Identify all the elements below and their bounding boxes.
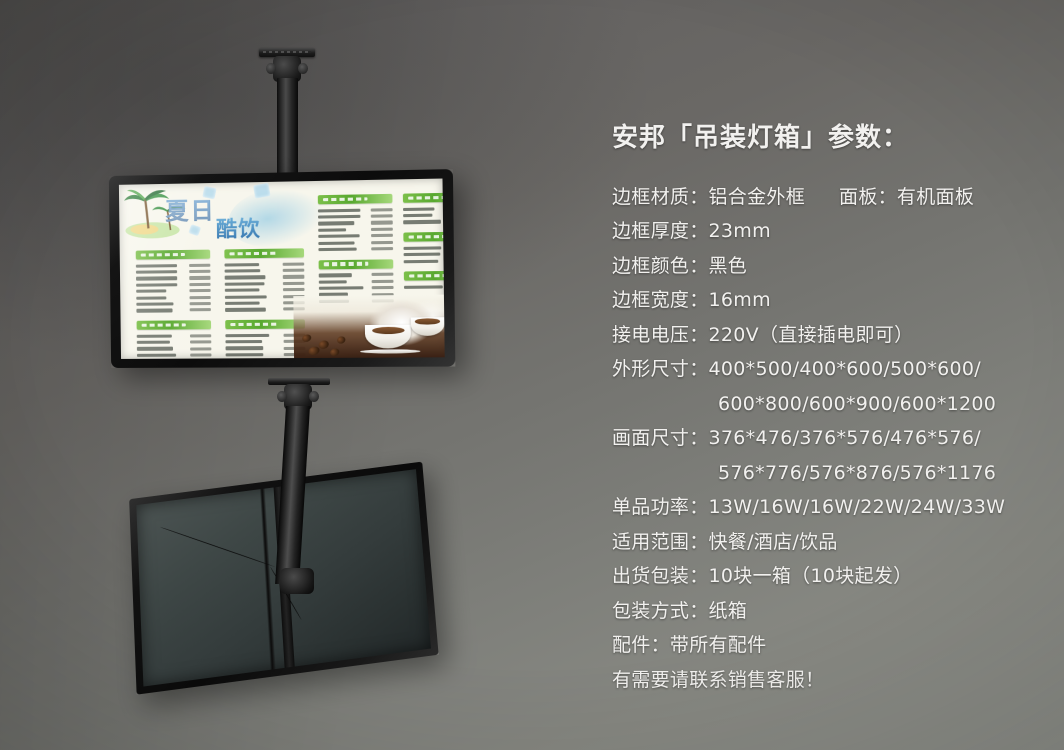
menu-item-price <box>189 270 210 273</box>
menu-item-price <box>371 240 393 243</box>
menu-item-name <box>403 214 432 218</box>
spec-line: 边框材质：铝合金外框面板：有机面板 <box>612 180 1042 215</box>
menu-item-price <box>189 263 210 266</box>
spec-line: 单品功率：13W/16W/16W/22W/24W/33W <box>612 490 1042 525</box>
menu-item-price <box>371 227 393 231</box>
menu-item-name <box>318 215 360 219</box>
menu-item-name <box>136 290 166 294</box>
tilt-hinge-icon <box>280 568 314 594</box>
menu-item-name <box>225 334 269 338</box>
spec-line: 外形尺寸：400*500/400*600/500*600/ <box>612 352 1042 387</box>
menu-item-price <box>189 289 210 292</box>
menu-item-name <box>319 286 364 290</box>
menu-item-name <box>137 353 176 357</box>
menu-item-name <box>225 340 262 344</box>
coffee-photo <box>293 295 445 358</box>
spec-line-list: 边框材质：铝合金外框面板：有机面板边框厚度：23mm边框颜色：黑色边框宽度：16… <box>612 180 1042 698</box>
menu-item-price <box>371 221 393 225</box>
menu-item-name <box>318 228 346 232</box>
spec-line: 576*776/576*876/576*1176 <box>612 456 1042 491</box>
menu-item-price <box>372 286 394 289</box>
menu-item-name <box>404 259 439 263</box>
spec-line-extra: 面板：有机面板 <box>839 186 974 208</box>
menu-item-name <box>137 341 170 345</box>
menu-item-name <box>225 269 261 273</box>
menu-item-name <box>137 334 172 338</box>
menu-item-row <box>137 358 212 359</box>
menu-item-price <box>283 269 305 272</box>
menu-item-name <box>225 289 259 293</box>
menu-item-name <box>403 246 440 250</box>
menu-hero-title-line1: 夏日 <box>165 191 216 226</box>
menu-item-price <box>283 262 305 265</box>
coffee-bean-icon <box>329 348 340 358</box>
light-box-frame: 夏日 酷饮 <box>109 169 456 368</box>
menu-section-header <box>137 320 212 330</box>
menu-item-name <box>403 220 441 224</box>
spec-line: 包装方式：纸箱 <box>612 594 1042 629</box>
coffee-cup-icon <box>365 325 411 349</box>
ice-cube-icon <box>188 224 201 236</box>
menu-item-name <box>225 301 259 305</box>
menu-item-name <box>136 270 177 274</box>
spec-panel: 安邦「吊装灯箱」参数： 边框材质：铝合金外框面板：有机面板边框厚度：23mm边框… <box>612 124 1042 697</box>
product-photo-stage: 夏日 酷饮 <box>0 0 1064 750</box>
menu-item-name <box>318 247 356 251</box>
menu-section-group-far-right <box>403 192 445 297</box>
menu-item-name <box>319 280 347 284</box>
menu-section-header <box>136 250 211 260</box>
menu-item-price <box>371 214 393 218</box>
menu-item-price <box>189 276 210 279</box>
menu-section-header <box>318 194 393 205</box>
menu-item-name <box>136 264 177 268</box>
spec-title: 安邦「吊装灯箱」参数： <box>612 124 1042 154</box>
menu-section-header <box>403 192 445 202</box>
menu-item-price <box>190 302 211 305</box>
menu-item-name <box>136 302 173 306</box>
menu-item-price <box>190 340 211 343</box>
menu-section-header <box>224 248 304 258</box>
spec-line: 边框宽度：16mm <box>612 283 1042 318</box>
coffee-bean-icon <box>301 333 312 343</box>
menu-item-price <box>371 247 393 250</box>
menu-section-header <box>319 259 394 269</box>
menu-item-name <box>225 308 266 312</box>
menu-item-name <box>137 347 173 351</box>
menu-item-name <box>318 208 360 212</box>
menu-item-name <box>404 253 441 257</box>
menu-item-price <box>190 347 211 350</box>
menu-section-header <box>404 271 445 281</box>
menu-item-name <box>225 282 265 286</box>
menu-section-group-right <box>318 194 394 312</box>
spec-line: 接电电压：220V（直接插电即可） <box>612 318 1042 353</box>
mount-pole-lower <box>275 406 310 584</box>
menu-item-name <box>136 277 178 281</box>
menu-item-name <box>136 296 166 300</box>
menu-item-price <box>371 234 393 237</box>
menu-item-name <box>136 283 178 287</box>
menu-item-name <box>318 241 354 245</box>
menu-light-box-front: 夏日 酷饮 <box>109 169 456 368</box>
menu-item-name <box>404 285 443 289</box>
spec-line: 出货包装：10块一箱（10块起发） <box>612 559 1042 594</box>
menu-hero-artwork: 夏日 酷饮 <box>119 181 305 247</box>
spec-line: 画面尺寸：376*476/376*576/476*576/ <box>612 421 1042 456</box>
spec-line: 配件：带所有配件 <box>612 628 1042 663</box>
menu-section-group-left <box>136 250 212 359</box>
spec-line: 适用范围：快餐/酒店/饮品 <box>612 525 1042 560</box>
spec-line: 边框厚度：23mm <box>612 214 1042 249</box>
menu-item-name <box>319 273 352 277</box>
spec-line: 有需要请联系销售客服！ <box>612 663 1042 698</box>
light-box-menu-panel: 夏日 酷饮 <box>119 179 445 359</box>
ceiling-mount-upper <box>247 48 327 188</box>
menu-item-price <box>189 296 210 299</box>
menu-item-price <box>190 334 211 337</box>
menu-item-price <box>372 280 394 283</box>
spec-line: 边框颜色：黑色 <box>612 249 1042 284</box>
menu-item-price <box>372 273 394 276</box>
menu-item-price <box>283 275 305 278</box>
menu-item-name <box>403 207 434 211</box>
menu-item-name <box>136 309 172 313</box>
menu-item-price <box>371 208 393 212</box>
coffee-bean-icon <box>318 339 330 350</box>
ice-cube-icon <box>253 183 270 199</box>
menu-item-name <box>226 347 263 351</box>
menu-item-name <box>225 295 266 299</box>
menu-item-price <box>189 283 210 286</box>
menu-hero-title-line2: 酷饮 <box>216 212 261 243</box>
menu-item-name <box>226 353 264 357</box>
spec-line: 600*800/600*900/600*1200 <box>612 387 1042 422</box>
menu-item-name <box>318 221 354 225</box>
coffee-bean-icon <box>336 336 346 345</box>
ceiling-mount-lower <box>258 378 348 608</box>
coffee-cup-icon <box>411 317 445 336</box>
menu-item-price <box>190 308 211 311</box>
menu-item-name <box>318 234 359 238</box>
menu-item-price <box>283 282 305 285</box>
menu-item-price <box>190 353 211 356</box>
menu-item-price <box>283 288 305 291</box>
menu-section-header <box>403 232 444 242</box>
saucer-icon <box>360 349 421 353</box>
menu-item-name <box>225 263 260 267</box>
menu-item-name <box>225 275 266 279</box>
